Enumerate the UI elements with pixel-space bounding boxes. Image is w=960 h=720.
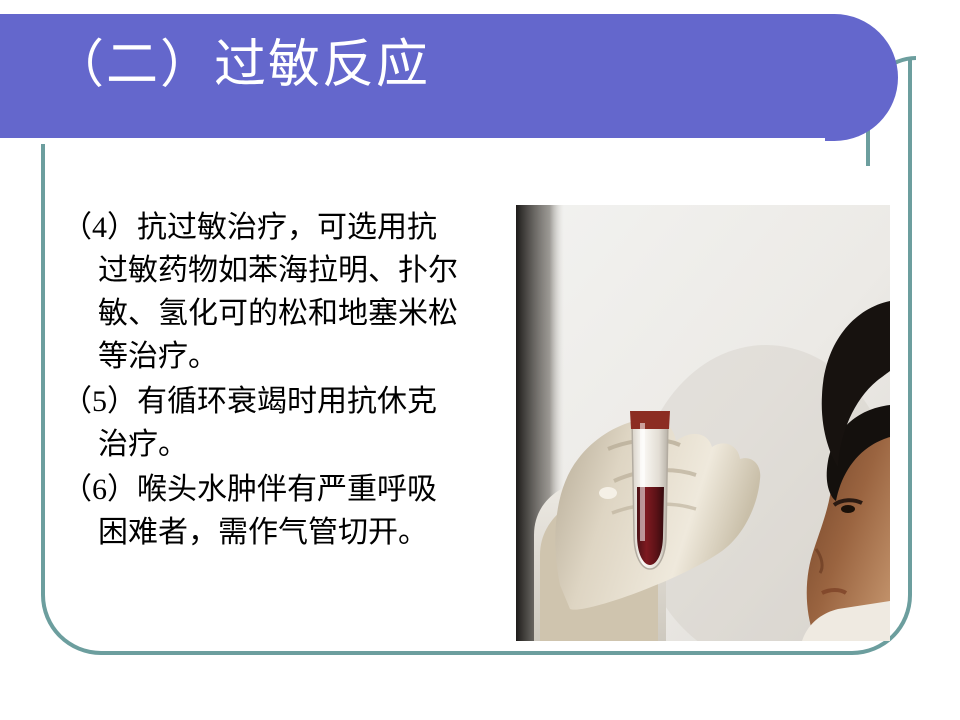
body-paragraph-5: （5）有循环衰竭时用抗休克治疗。 — [62, 380, 462, 466]
body-paragraph-6: （6）喉头水肿伴有严重呼吸困难者，需作气管切开。 — [62, 468, 462, 554]
slide-title: （二）过敏反应 — [52, 24, 752, 108]
presentation-slide: （二）过敏反应 （4）抗过敏治疗，可选用抗过敏药物如苯海拉明、扑尔敏、氢化可的松… — [0, 0, 960, 720]
title-banner-rule — [0, 138, 825, 144]
slide-photo — [516, 205, 890, 641]
body-paragraph-4: （4）抗过敏治疗，可选用抗过敏药物如苯海拉明、扑尔敏、氢化可的松和地塞米松等治疗… — [62, 206, 462, 378]
body-text-block: （4）抗过敏治疗，可选用抗过敏药物如苯海拉明、扑尔敏、氢化可的松和地塞米松等治疗… — [62, 206, 462, 556]
lab-blood-sample-illustration — [516, 205, 890, 641]
